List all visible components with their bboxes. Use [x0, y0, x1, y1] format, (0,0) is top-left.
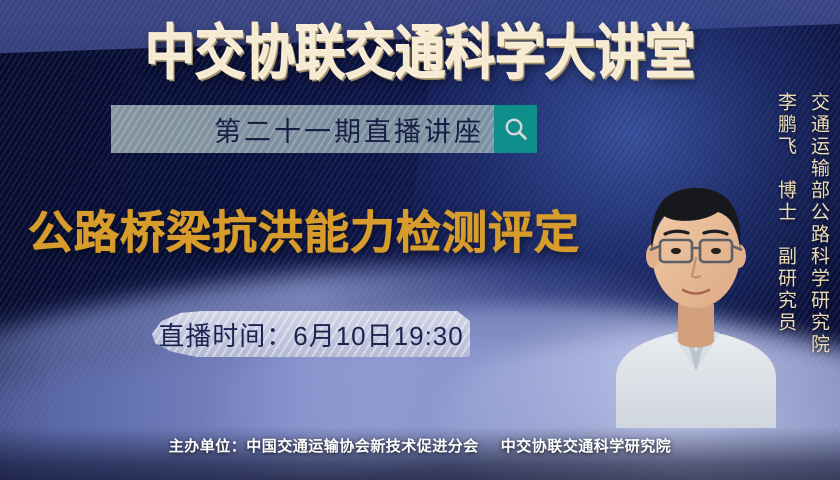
organizer-two: 中交协联交通科学研究院 [501, 438, 672, 455]
broadcast-time-text: 直播时间：6月10日19:30 [158, 316, 463, 353]
broadcast-time-badge: 直播时间：6月10日19:30 [152, 311, 470, 357]
session-bar: 第二十一期直播讲座 [111, 105, 537, 153]
speaker-organization: 交通运输部公路科学研究院 [805, 92, 832, 356]
organizer-footer: 主办单位：中国交通运输协会新技术促进分会中交协联交通科学研究院 [0, 435, 840, 456]
organizer-prefix: 主办单位： [169, 438, 247, 455]
session-bar-body: 第二十一期直播讲座 [111, 105, 494, 153]
speaker-info: 李鹏飞 博士 副研究员 交通运输部公路科学研究院 [772, 92, 832, 356]
speaker-name-title: 李鹏飞 博士 副研究员 [772, 92, 799, 334]
lecture-title: 公路桥梁抗洪能力检测评定 [28, 204, 580, 262]
organizer-one: 中国交通运输协会新技术促进分会 [246, 438, 479, 455]
live-lecture-poster: 中交协联交通科学大讲堂 第二十一期直播讲座 公路桥梁抗洪能力检测评定 直播时间：… [0, 0, 840, 480]
search-button[interactable] [494, 105, 537, 153]
session-label: 第二十一期直播讲座 [214, 110, 484, 149]
page-title: 中交协联交通科学大讲堂 [0, 14, 840, 92]
search-icon [502, 115, 530, 143]
speaker-portrait [612, 128, 780, 428]
